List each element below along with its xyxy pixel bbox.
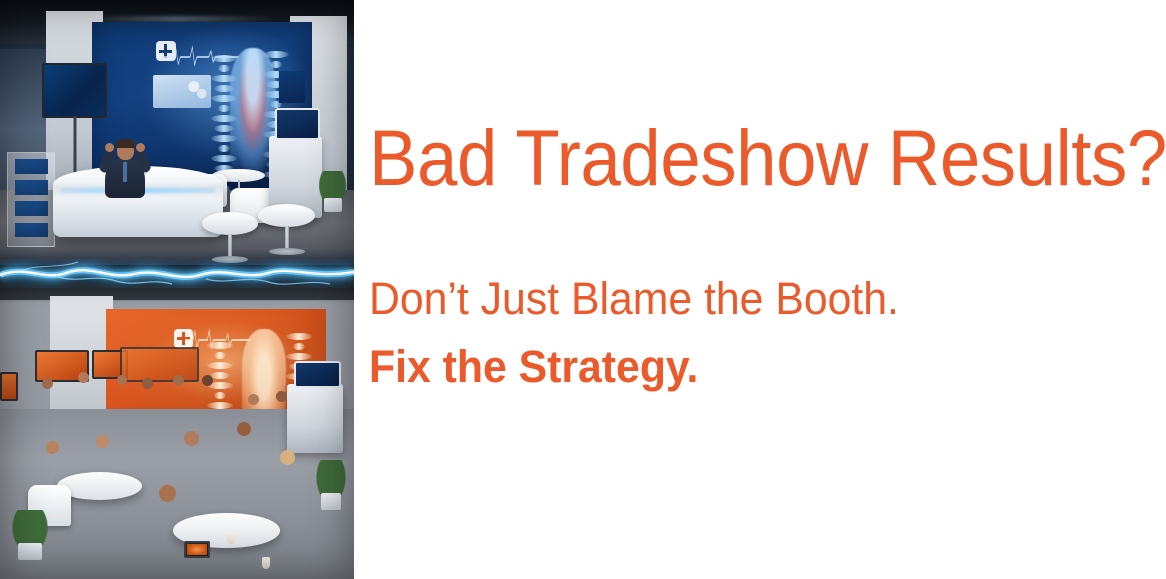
frustrated-exhibitor (103, 141, 147, 205)
potted-plant-left (7, 510, 53, 560)
backdrop-side-panel (279, 71, 305, 103)
headline: Bad Tradeshow Results? (369, 118, 1166, 197)
coffee-cup-1 (227, 532, 235, 544)
backdrop-product-panel (153, 75, 210, 109)
wall-monitor (42, 63, 106, 119)
busy-booth-scene (0, 265, 354, 579)
potted-plant-right (312, 460, 351, 510)
coffee-cup-2 (262, 557, 270, 569)
bar-stool-1 (202, 212, 259, 261)
booth-ceiling (0, 265, 354, 300)
bar-stool-2 (258, 204, 315, 253)
subheadline-line-1: Don’t Just Blame the Booth. (369, 276, 899, 321)
potted-plant-right (315, 171, 350, 212)
product-display-panel (120, 347, 198, 382)
subheadline-line-2: Fix the Strategy. (369, 344, 698, 389)
tablet-device (184, 541, 210, 558)
text-column: Bad Tradeshow Results? Don’t Just Blame … (354, 0, 1166, 579)
medical-equipment-cart (287, 384, 344, 453)
empty-booth-scene (0, 0, 354, 272)
wall-screen-3 (0, 372, 18, 401)
brochure-rack (7, 152, 55, 246)
image-column (0, 0, 354, 579)
busy-booth-photo (0, 265, 354, 579)
empty-booth-photo (0, 0, 354, 272)
poster-canvas: Bad Tradeshow Results? Don’t Just Blame … (0, 0, 1166, 579)
